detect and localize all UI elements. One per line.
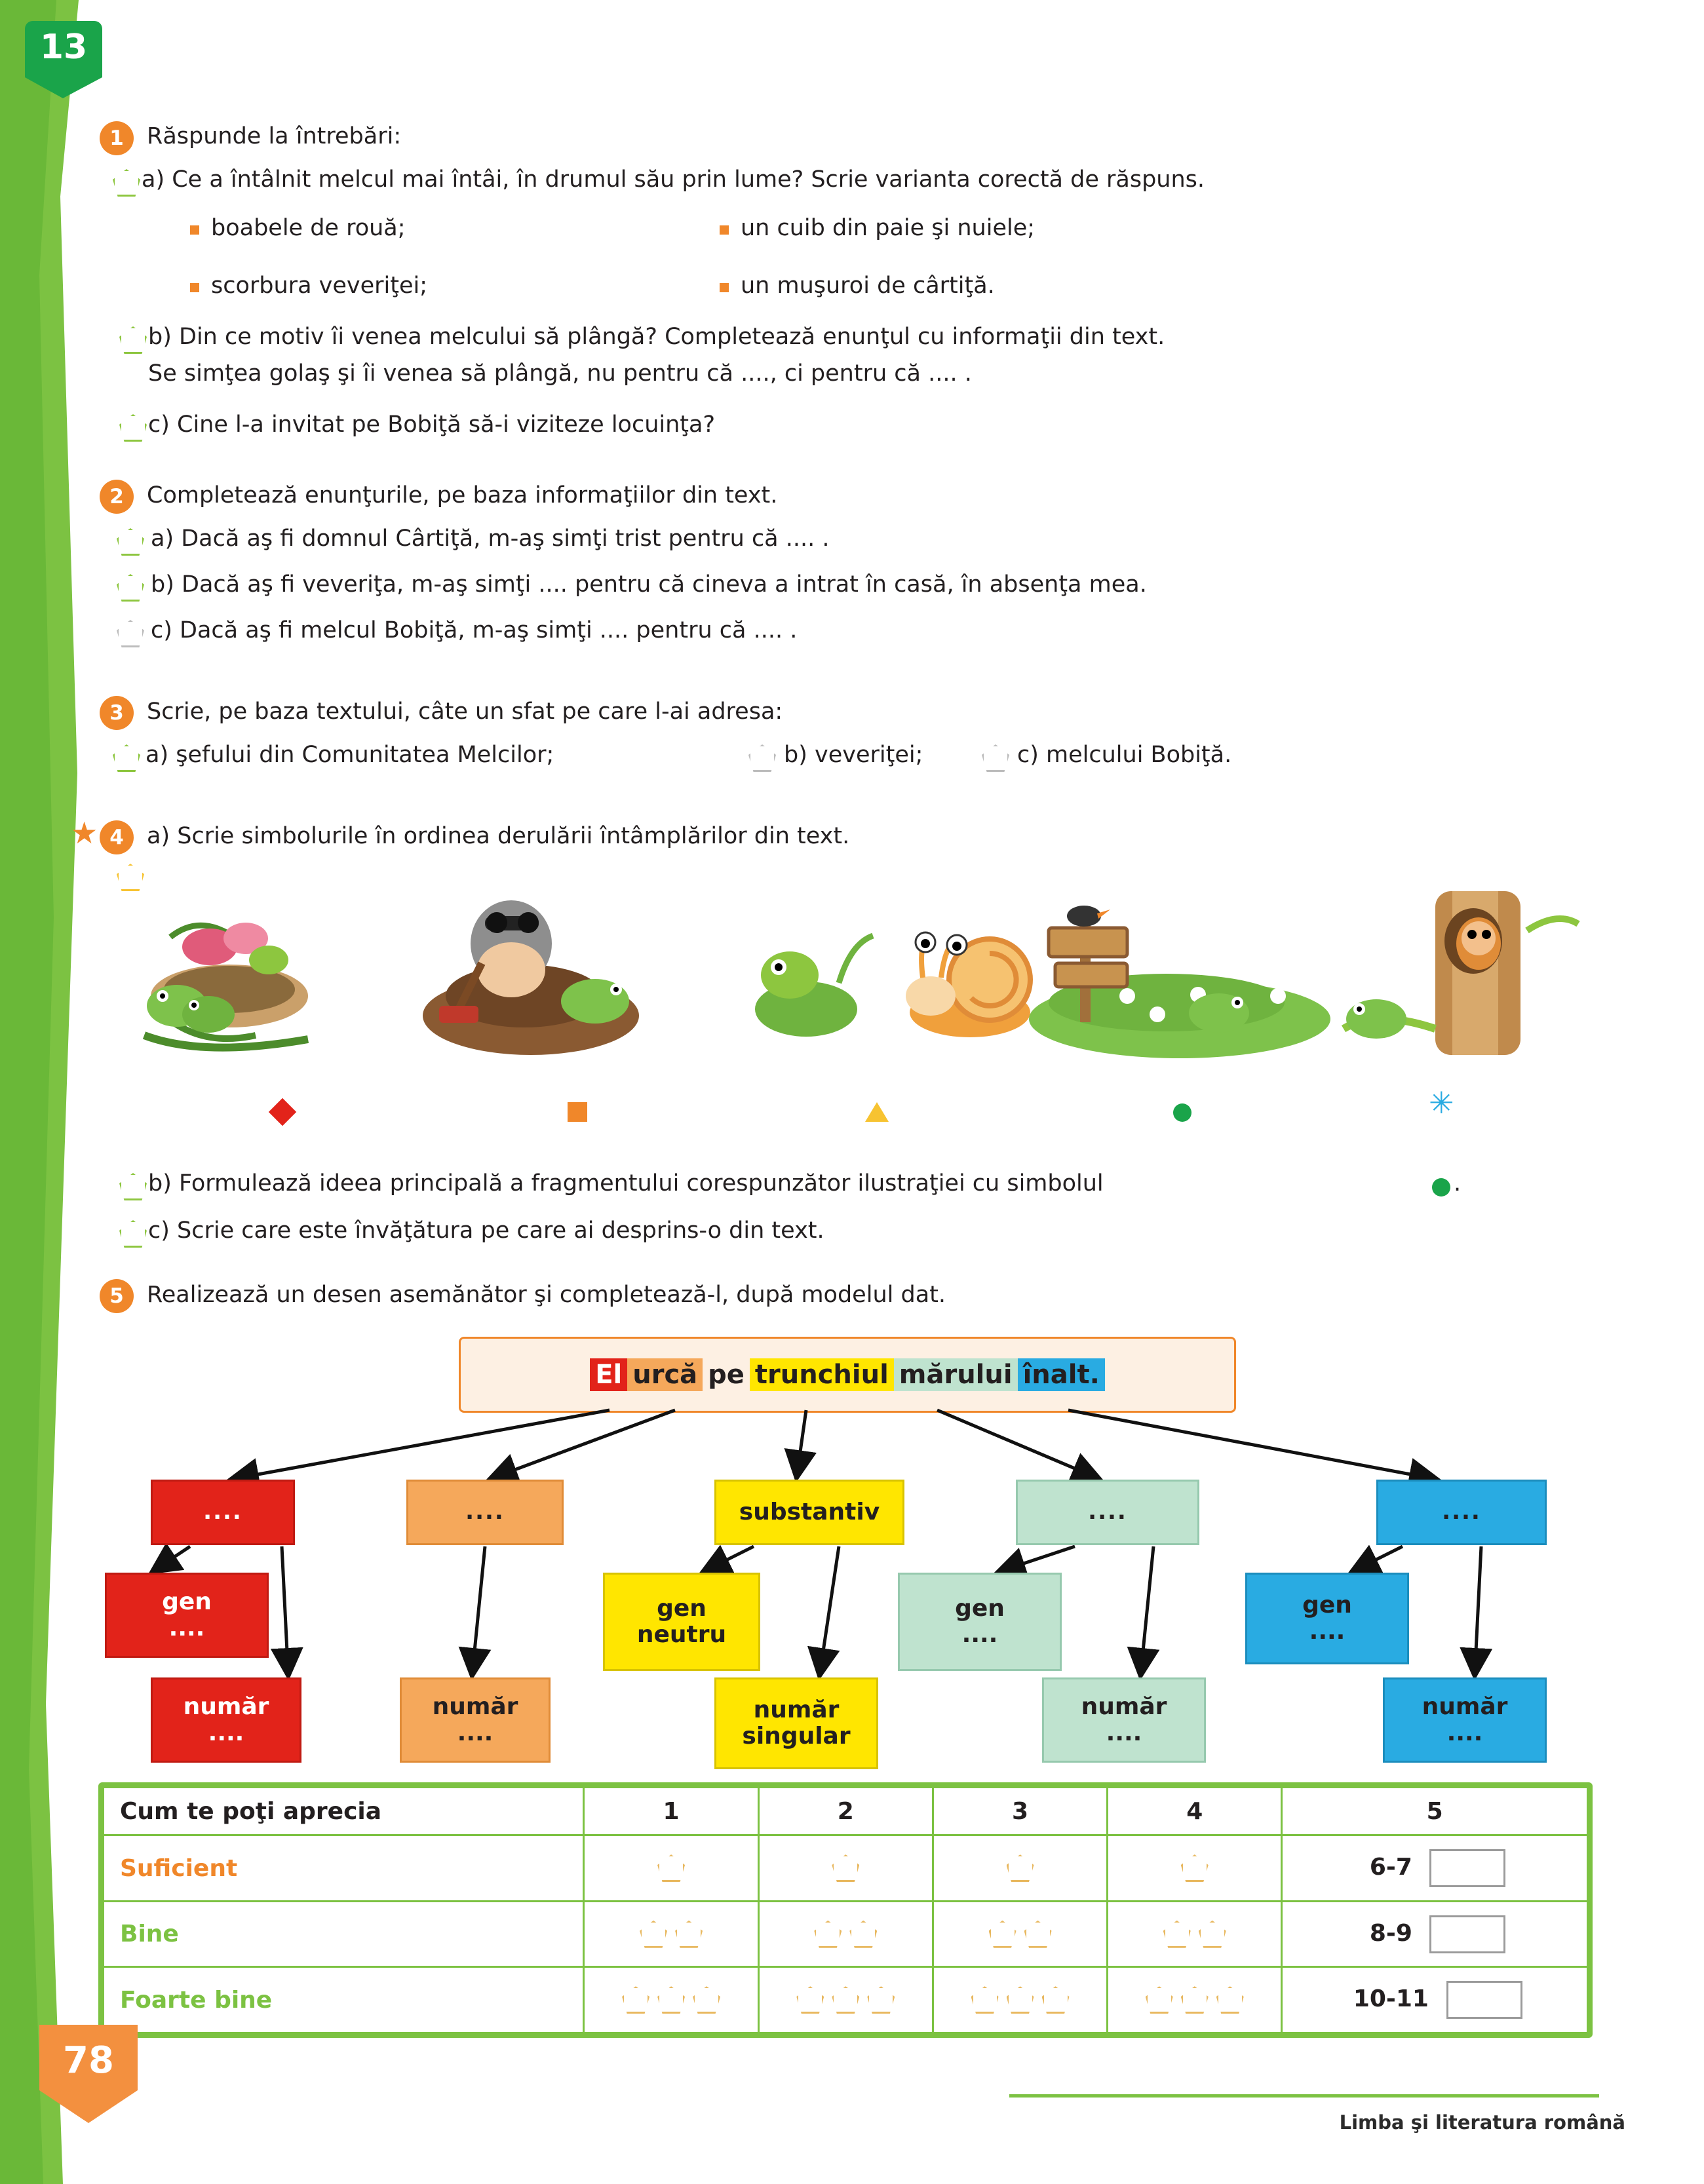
diagram-part-4: ....	[1016, 1480, 1199, 1545]
exercise-number-5: 5	[100, 1279, 134, 1313]
exercise-1a-option-2: un cuib din paie şi nuiele;	[741, 214, 1035, 243]
model-sentence-box: El urcă pe trunchiul mărului înalt.	[459, 1337, 1236, 1413]
exercise-3c-label: c) melcului Bobiţă.	[1017, 740, 1231, 770]
exercise-4b-label: b) Formulează ideea principală a fragmen…	[148, 1169, 1104, 1198]
pentagon-bullet-1b	[119, 326, 147, 354]
diagram-gen-1: gen ....	[105, 1573, 269, 1658]
exercise-2b-label: b) Dacă aş fi veveriţa, m-aş simţi .... …	[151, 570, 1147, 600]
star-icon: ★	[71, 818, 98, 848]
table-header-row: Cum te poţi aprecia 1 2 3 4 5	[104, 1788, 1588, 1835]
header-cell-2: 2	[758, 1788, 933, 1835]
diagram-part-3: substantiv	[714, 1480, 904, 1545]
pentagon-bullet-2c	[117, 620, 144, 647]
page-content: 1 Răspunde la întrebări: a) Ce a întâlni…	[0, 0, 1704, 2184]
exercise-5-prompt: Realizează un desen asemănător şi comple…	[147, 1280, 946, 1310]
symbol-triangle-yellow	[865, 1102, 889, 1122]
diagram-numar-1: număr ....	[151, 1677, 301, 1763]
score-cell-foarte-bine[interactable]: 10-11	[1282, 1967, 1588, 2033]
exercise-2a-label: a) Dacă aş fi domnul Cârtiţă, m-aş simţi…	[151, 524, 830, 554]
exercise-number-4: 4	[100, 820, 134, 854]
diagram-part-1: ....	[151, 1480, 295, 1545]
exercise-2c-label: c) Dacă aş fi melcul Bobiţă, m-aş simţi …	[151, 616, 797, 645]
row-label-suficient: Suficient	[104, 1835, 584, 1902]
header-cell-0: Cum te poţi aprecia	[104, 1788, 584, 1835]
exercise-1-prompt: Răspunde la întrebări:	[147, 122, 401, 151]
mark-cell[interactable]	[758, 1835, 933, 1902]
self-evaluation-table: Cum te poţi aprecia 1 2 3 4 5 Suficient …	[98, 1782, 1593, 2038]
mark-cell[interactable]	[584, 1835, 758, 1902]
header-cell-4: 4	[1108, 1788, 1282, 1835]
footer-rule	[1009, 2094, 1599, 2098]
pentagon-bullet-4b	[119, 1173, 147, 1200]
sentence-word-2: urcă	[627, 1358, 703, 1391]
mark-cell[interactable]	[933, 1835, 1107, 1902]
mark-cell[interactable]	[1108, 1901, 1282, 1967]
symbol-square-orange	[568, 1102, 587, 1122]
header-cell-5: 5	[1282, 1788, 1588, 1835]
table-row: Bine 8-9	[104, 1901, 1588, 1967]
mark-cell[interactable]	[1108, 1835, 1282, 1902]
header-cell-3: 3	[933, 1788, 1107, 1835]
pentagon-bullet-3c	[982, 744, 1009, 772]
mark-cell[interactable]	[758, 1967, 933, 2033]
diagram-part-2: ....	[406, 1480, 564, 1545]
exercise-1c-label: c) Cine l-a invitat pe Bobiţă să-i vizit…	[148, 410, 715, 440]
symbol-circle-green	[1173, 1103, 1191, 1122]
sentence-word-6: înalt.	[1018, 1358, 1105, 1391]
diagram-gen-4: gen ....	[898, 1573, 1062, 1671]
pentagon-bullet-2b	[117, 574, 144, 602]
exercise-4b-label-tail: .	[1454, 1169, 1461, 1198]
inline-symbol-circle-green	[1432, 1178, 1450, 1197]
pentagon-bullet-4c	[119, 1220, 147, 1248]
sentence-word-3: pe	[703, 1358, 750, 1391]
option-bullet-3	[190, 283, 199, 292]
exercise-4c-label: c) Scrie care este învăţătura pe care ai…	[148, 1216, 824, 1246]
header-cell-1: 1	[584, 1788, 758, 1835]
symbol-diamond-red	[269, 1098, 296, 1126]
exercise-3b-label: b) veveriţei;	[784, 740, 923, 770]
pentagon-bullet-3b	[748, 744, 776, 772]
exercise-3-prompt: Scrie, pe baza textului, câte un sfat pe…	[147, 697, 783, 727]
diagram-gen-5: gen ....	[1245, 1573, 1409, 1664]
option-bullet-2	[720, 225, 729, 235]
exercise-1b-label: b) Din ce motiv îi venea melcului să plâ…	[148, 322, 1165, 352]
score-input-foarte-bine[interactable]	[1446, 1981, 1522, 2019]
diagram-part-5: ....	[1376, 1480, 1547, 1545]
sentence-word-5: mărului	[894, 1358, 1018, 1391]
exercise-1b-continuation: Se simţea golaş şi îi venea să plângă, n…	[148, 359, 972, 389]
score-cell-suficient[interactable]: 6-7	[1282, 1835, 1588, 1902]
sentence-word-4: trunchiul	[750, 1358, 894, 1391]
diagram-gen-3: gen neutru	[603, 1573, 760, 1671]
diagram-numar-3: număr singular	[714, 1677, 878, 1769]
pentagon-bullet-2a	[117, 528, 144, 556]
footer-subject: Limba şi literatura română	[1340, 2111, 1625, 2134]
row-label-bine: Bine	[104, 1901, 584, 1967]
exercise-1a-option-1: boabele de rouă;	[211, 214, 406, 243]
diagram-numar-2: număr ....	[400, 1677, 551, 1763]
symbol-star-blue: ✳	[1429, 1094, 1454, 1111]
score-cell-bine[interactable]: 8-9	[1282, 1901, 1588, 1967]
row-label-foarte-bine: Foarte bine	[104, 1967, 584, 2033]
mark-cell[interactable]	[1108, 1967, 1282, 2033]
option-bullet-1	[190, 225, 199, 235]
page-number-label: 78	[63, 2025, 114, 2082]
table-row: Foarte bine 10-11	[104, 1967, 1588, 2033]
diagram-numar-4: număr ....	[1042, 1677, 1206, 1763]
mark-cell[interactable]	[758, 1901, 933, 1967]
mark-cell[interactable]	[933, 1967, 1107, 2033]
exercise-number-1: 1	[100, 121, 134, 155]
exercise-1a-option-4: un muşuroi de cârtiţă.	[741, 271, 995, 301]
pentagon-bullet-1a	[113, 169, 140, 197]
pentagon-bullet-4a	[117, 864, 144, 891]
option-bullet-4	[720, 283, 729, 292]
exercise-4a-label: a) Scrie simbolurile în ordinea derulări…	[147, 822, 849, 851]
score-input-suficient[interactable]	[1429, 1849, 1505, 1887]
exercise-number-3: 3	[100, 696, 134, 730]
pentagon-bullet-1c	[119, 414, 147, 442]
sentence-word-1: El	[590, 1358, 627, 1391]
exercise-1a-label: a) Ce a întâlnit melcul mai întâi, în dr…	[142, 165, 1205, 195]
mark-cell[interactable]	[584, 1967, 758, 2033]
exercise-number-2: 2	[100, 480, 134, 514]
mark-cell[interactable]	[584, 1901, 758, 1967]
diagram-numar-5: număr ....	[1383, 1677, 1547, 1763]
exercise-2-prompt: Completează enunţurile, pe baza informaţ…	[147, 481, 777, 510]
exercise-3a-label: a) şefului din Comunitatea Melcilor;	[145, 740, 554, 770]
table-row: Suficient 6-7	[104, 1835, 1588, 1902]
exercise-1a-option-3: scorbura veveriţei;	[211, 271, 427, 301]
mark-cell[interactable]	[933, 1901, 1107, 1967]
pentagon-bullet-3a	[113, 744, 140, 772]
score-input-bine[interactable]	[1429, 1915, 1505, 1953]
